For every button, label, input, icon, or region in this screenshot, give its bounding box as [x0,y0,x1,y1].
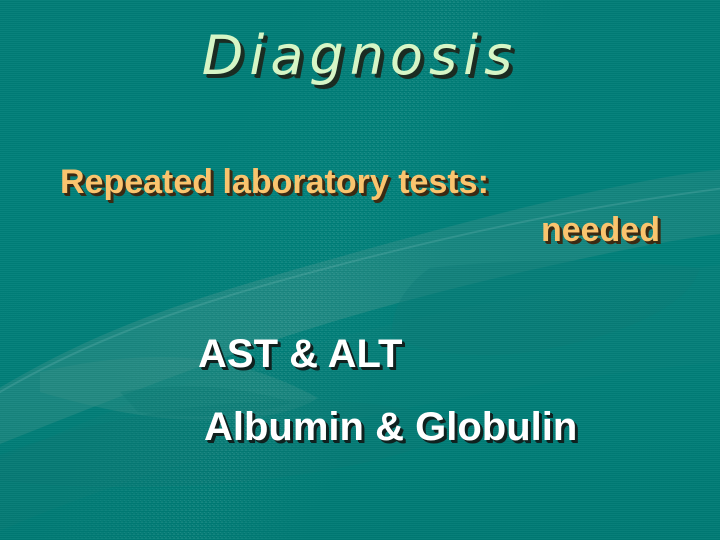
body-block: AST & ALT Albumin & Globulin [198,318,678,464]
presentation-slide: Diagnosis Repeated laboratory tests: nee… [0,0,720,540]
body-line-2: Albumin & Globulin [198,391,678,464]
slide-content: Diagnosis Repeated laboratory tests: nee… [0,0,720,540]
slide-title: Diagnosis [0,28,720,85]
body-line-1: AST & ALT [198,318,678,391]
subtitle-line-1: Repeated laboratory tests: [60,158,660,206]
subtitle-line-2: needed [60,206,660,254]
subtitle-block: Repeated laboratory tests: needed [60,158,660,255]
